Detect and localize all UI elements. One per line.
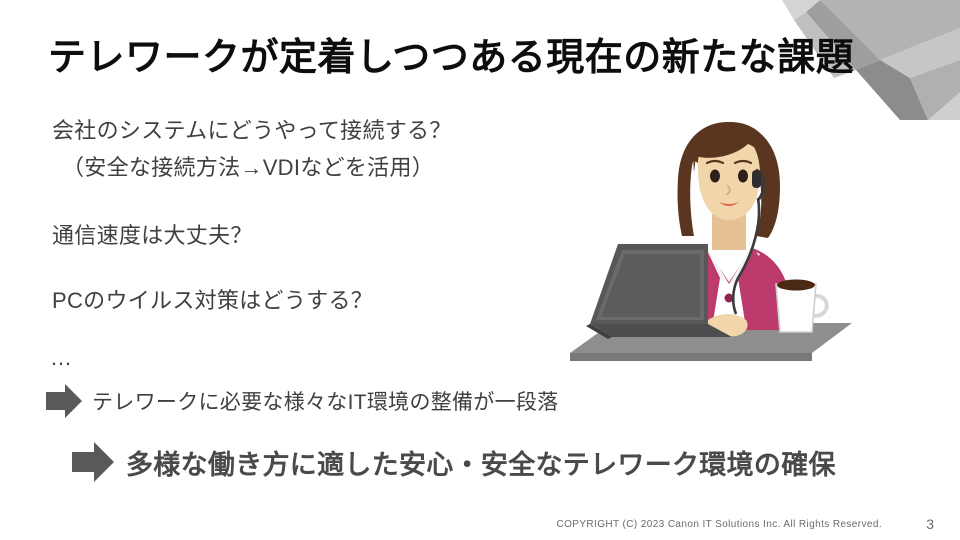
- conclusion-row-1: テレワークに必要な様々なIT環境の整備が一段落: [46, 384, 559, 418]
- slide-canvas: テレワークが定着しつつある現在の新たな課題 会社のシステムにどうやって接続する？…: [0, 0, 960, 540]
- desk-edge: [570, 353, 812, 361]
- right-block-arrow-icon: [46, 384, 82, 418]
- woman-at-laptop-illustration: [560, 118, 860, 363]
- mug-body: [776, 284, 816, 332]
- mug-handle: [814, 296, 827, 316]
- footer-page-number: 3: [926, 516, 934, 532]
- conclusion-text-1: テレワークに必要な様々なIT環境の整備が一段落: [92, 386, 559, 416]
- body-line-ellipsis: …: [50, 345, 72, 371]
- hair-side-left: [678, 156, 695, 236]
- headset-earpiece: [752, 170, 761, 188]
- conclusion-text-2: 多様な働き方に適した安心・安全なテレワーク環境の確保: [126, 443, 836, 482]
- conclusion-row-2: 多様な働き方に適した安心・安全なテレワーク環境の確保: [72, 442, 836, 482]
- page-title: テレワークが定着しつつある現在の新たな課題: [48, 26, 854, 81]
- right-block-arrow-icon: [72, 442, 114, 482]
- body-line-connection-answer: （安全な接続方法→VDIなどを活用）: [62, 150, 434, 182]
- body-line-connection-question: 会社のシステムにどうやって接続する？: [52, 113, 452, 145]
- laptop-base: [590, 324, 732, 337]
- eye-right: [738, 170, 748, 183]
- eye-left: [710, 170, 720, 183]
- body-line-antivirus-question: PCのウイルス対策はどうする？: [52, 283, 373, 315]
- mug-coffee: [777, 280, 815, 291]
- footer-copyright: COPYRIGHT (C) 2023 Canon IT Solutions In…: [556, 519, 882, 530]
- body-line-network-speed-question: 通信速度は大丈夫？: [52, 218, 253, 250]
